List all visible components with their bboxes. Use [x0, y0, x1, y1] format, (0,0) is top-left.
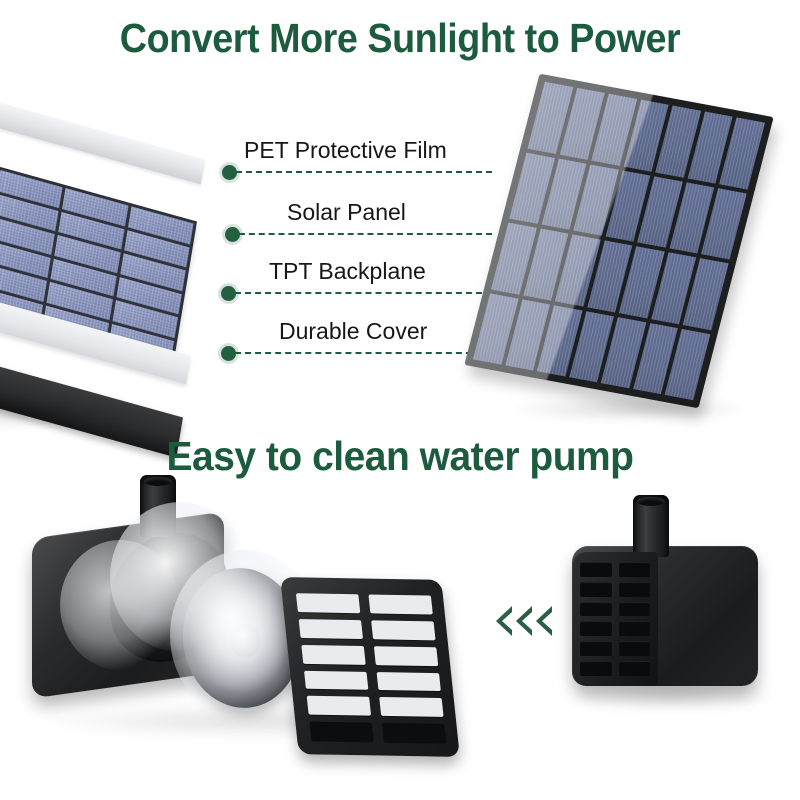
- callout-dashed-line: [236, 171, 492, 173]
- pump-outlet-spout: [140, 475, 176, 537]
- pump-illustration-group: [0, 480, 800, 800]
- callout-dashed-line: [235, 352, 492, 354]
- exploded-solar-layer-stack: [0, 68, 295, 408]
- assembled-pump-outlet-spout: [633, 495, 669, 557]
- triple-chevron-left-icon: [496, 600, 566, 644]
- callout-dot-icon: [221, 286, 236, 301]
- callout-label: TPT Backplane: [269, 258, 426, 285]
- grille-slot-grid: [296, 593, 446, 743]
- assembled-pump-grille-face: [572, 552, 658, 686]
- page-title-pump: Easy to clean water pump: [20, 432, 780, 480]
- solar-panel-cell-grid: [473, 82, 765, 400]
- callout-label: Durable Cover: [279, 318, 427, 345]
- page-title-solar: Convert More Sunlight to Power: [32, 14, 768, 62]
- callout-label: PET Protective Film: [244, 137, 447, 164]
- solar-panel-product-photo: [470, 66, 800, 436]
- callout-dot-icon: [225, 227, 240, 242]
- impeller-hub: [229, 622, 262, 659]
- callout-dashed-line: [235, 292, 492, 294]
- callout-dashed-line: [239, 233, 492, 235]
- pump-grille-cover: [280, 577, 460, 757]
- solar-panel-frame: [464, 74, 773, 409]
- panel-shadow: [510, 396, 750, 422]
- callout-dot-icon: [222, 165, 237, 180]
- stack-shadow: [0, 398, 175, 428]
- infographic-canvas: Convert More Sunlight to Power: [0, 0, 800, 800]
- callout-label: Solar Panel: [287, 199, 406, 226]
- grille-slot-grid: [580, 562, 650, 676]
- callout-dot-icon: [221, 346, 236, 361]
